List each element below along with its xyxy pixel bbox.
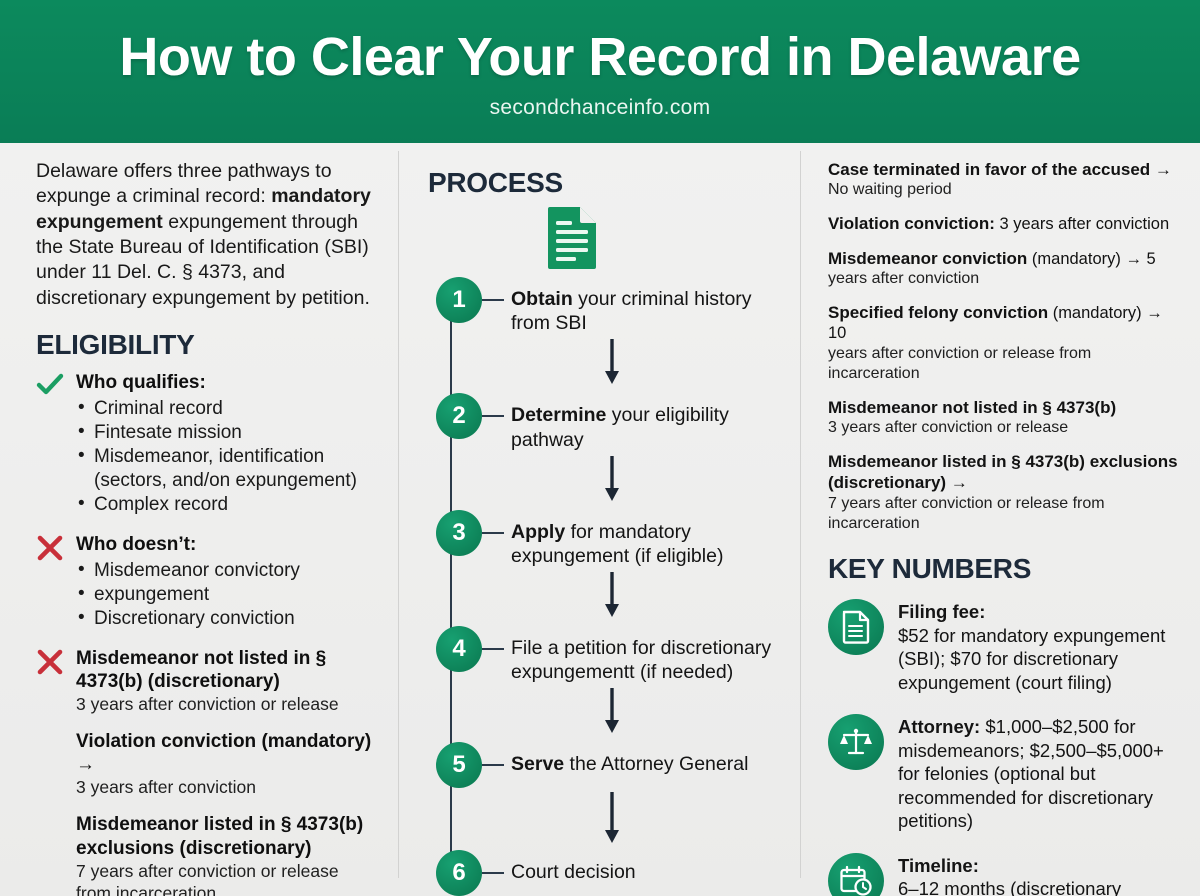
step-label: Apply for mandatory expungement (if elig…	[504, 510, 786, 568]
step-number-badge: 1	[436, 277, 482, 323]
infographic-page: How to Clear Your Record in Delaware sec…	[0, 0, 1200, 896]
fact-sub: No waiting period	[828, 180, 1182, 200]
fact-title: Specified felony conviction (mandatory) …	[828, 302, 1182, 344]
fact-sub: years after conviction or release from i…	[828, 344, 1182, 384]
page-header: How to Clear Your Record in Delaware sec…	[0, 0, 1200, 143]
step-connector-dash	[482, 872, 504, 874]
calendar-clock-icon	[828, 853, 884, 896]
step-label: Obtain your criminal history from SBI	[504, 277, 786, 335]
x-icon	[36, 647, 66, 716]
process-steps: 1 Obtain your criminal history from SBI …	[418, 277, 786, 896]
key-item-timeline: Timeline:6–12 months (discretionary peti…	[828, 853, 1182, 896]
step-number-badge: 4	[436, 626, 482, 672]
fact-title: Misdemeanor listed in § 4373(b) exclusio…	[828, 451, 1182, 494]
fact-sub: 3 years after conviction or release	[828, 418, 1182, 438]
eligibility-doesnt-block: Who doesn’t: Misdemeanor convictory expu…	[36, 533, 372, 631]
fact-inline: 3 years after conviction	[995, 215, 1169, 233]
doesnt-heading: Who doesn’t:	[76, 533, 372, 556]
list-item: Misdemeanor convictory	[76, 559, 372, 583]
key-item-label: Timeline:	[898, 855, 979, 876]
scales-icon	[828, 714, 884, 770]
step-connector-dash	[482, 648, 504, 650]
eligibility-qualifies-block: Who qualifies: Criminal record Fintesate…	[36, 371, 372, 517]
flow-arrow-5	[426, 788, 786, 850]
note-sub: 7 years after conviction or release from…	[76, 861, 372, 896]
step-label: Court decision	[504, 850, 636, 884]
fact-sub: 7 years after conviction or release from…	[828, 494, 1182, 534]
step-number-badge: 6	[436, 850, 482, 896]
page-title: How to Clear Your Record in Delaware	[119, 29, 1080, 86]
step-connector-dash	[482, 764, 504, 766]
list-item: Misdemeanor, identification (sectors, an…	[76, 445, 372, 493]
flow-arrow-2	[426, 452, 786, 510]
process-step-1: 1 Obtain your criminal history from SBI	[426, 277, 786, 335]
step-label-bold: Apply	[511, 521, 565, 543]
key-item-value: 6–12 months (discretionary petition with…	[898, 878, 1121, 896]
content-columns: Delaware offers three pathways to expung…	[0, 143, 1200, 896]
qualifies-list: Criminal record Fintesate mission Misdem…	[76, 397, 372, 517]
step-label: File a petition for discretionary expung…	[504, 626, 786, 684]
step-label-rest: File a petition for discretionary expung…	[511, 637, 771, 683]
fact-title-bold: Misdemeanor conviction	[828, 249, 1027, 268]
flow-arrow-4	[426, 684, 786, 742]
x-icon	[36, 533, 66, 631]
step-label: Serve the Attorney General	[504, 742, 748, 776]
key-item-text: Timeline:6–12 months (discretionary peti…	[898, 853, 1182, 896]
fact-title-bold: Violation conviction:	[828, 214, 995, 233]
fact-inline: (mandatory) → 5	[1027, 250, 1155, 268]
process-column: PROCESS	[398, 159, 800, 896]
key-item-text: Filing fee:$52 for mandatory expungement…	[898, 599, 1182, 694]
list-item: Discretionary conviction	[76, 607, 372, 631]
note-block-3: Misdemeanor listed in § 4373(b) exclusio…	[36, 813, 372, 896]
fact-row-2: Violation conviction: 3 years after conv…	[828, 213, 1182, 234]
list-item: Fintesate mission	[76, 421, 372, 445]
note-icon-spacer	[36, 813, 66, 896]
note-icon-spacer	[36, 730, 66, 799]
intro-paragraph: Delaware offers three pathways to expung…	[36, 159, 372, 311]
flow-arrow-1	[426, 335, 786, 393]
process-step-4: 4 File a petition for discretionary expu…	[426, 626, 786, 684]
list-item: Criminal record	[76, 397, 372, 421]
step-number-badge: 2	[436, 393, 482, 439]
process-step-3: 3 Apply for mandatory expungement (if el…	[426, 510, 786, 568]
left-column: Delaware offers three pathways to expung…	[0, 159, 398, 896]
fact-title: Misdemeanor conviction (mandatory) → 5	[828, 248, 1182, 269]
note-heading: Violation conviction (mandatory) →	[76, 730, 372, 776]
flow-arrow-3	[426, 568, 786, 626]
step-connector-dash	[482, 415, 504, 417]
key-item-attorney: Attorney: $1,000–$2,500 for misdemeanors…	[828, 714, 1182, 832]
step-number-badge: 5	[436, 742, 482, 788]
fact-row-5: Misdemeanor not listed in § 4373(b) 3 ye…	[828, 397, 1182, 438]
note-sub: 3 years after conviction or release	[76, 694, 372, 716]
key-item-filing-fee: Filing fee:$52 for mandatory expungement…	[828, 599, 1182, 694]
step-label: Determine your eligibility pathway	[504, 393, 786, 451]
fact-title: Case terminated in favor of the accused …	[828, 159, 1182, 180]
key-item-text: Attorney: $1,000–$2,500 for misdemeanors…	[898, 714, 1182, 832]
key-numbers-heading: KEY NUMBERS	[828, 553, 1182, 585]
process-step-5: 5 Serve the Attorney General	[426, 742, 786, 788]
note-heading: Misdemeanor not listed in § 4373(b) (dis…	[76, 647, 372, 693]
eligibility-heading: ELIGIBILITY	[36, 329, 372, 361]
fact-row-4: Specified felony conviction (mandatory) …	[828, 302, 1182, 384]
step-number-badge: 3	[436, 510, 482, 556]
qualifies-heading: Who qualifies:	[76, 371, 372, 394]
list-item: expungement	[76, 583, 372, 607]
list-item: Complex record	[76, 493, 372, 517]
step-label-rest: Court decision	[511, 861, 636, 883]
fact-title-bold: Misdemeanor not listed in § 4373(b)	[828, 398, 1116, 417]
step-connector-dash	[482, 532, 504, 534]
fact-sub: years after conviction	[828, 269, 1182, 289]
note-sub: 3 years after conviction	[76, 777, 372, 799]
step-label-bold: Serve	[511, 753, 564, 775]
check-icon	[36, 371, 66, 517]
document-icon	[418, 205, 786, 271]
site-url: secondchanceinfo.com	[490, 96, 711, 120]
note-block-1: Misdemeanor not listed in § 4373(b) (dis…	[36, 647, 372, 716]
right-column: Case terminated in favor of the accused …	[800, 159, 1200, 896]
note-heading: Misdemeanor listed in § 4373(b) exclusio…	[76, 813, 372, 859]
process-flow: 1 Obtain your criminal history from SBI …	[418, 277, 786, 896]
fact-title: Misdemeanor not listed in § 4373(b)	[828, 397, 1182, 418]
key-item-label: Filing fee:	[898, 601, 985, 622]
fact-title-bold: Specified felony conviction	[828, 303, 1048, 322]
process-heading: PROCESS	[428, 167, 786, 199]
key-item-value: $52 for mandatory expungement (SBI); $70…	[898, 625, 1165, 693]
fact-row-1: Case terminated in favor of the accused …	[828, 159, 1182, 200]
document-circle-icon	[828, 599, 884, 655]
doesnt-list: Misdemeanor convictory expungement Discr…	[76, 559, 372, 631]
step-label-bold: Obtain	[511, 288, 573, 310]
process-step-2: 2 Determine your eligibility pathway	[426, 393, 786, 451]
fact-row-6: Misdemeanor listed in § 4373(b) exclusio…	[828, 451, 1182, 534]
step-connector-dash	[482, 299, 504, 301]
step-label-rest: the Attorney General	[564, 753, 748, 775]
fact-row-3: Misdemeanor conviction (mandatory) → 5 y…	[828, 248, 1182, 289]
fact-title-bold: Case terminated in favor of the accused …	[828, 160, 1172, 179]
note-block-2: Violation conviction (mandatory) → 3 yea…	[36, 730, 372, 799]
step-label-bold: Determine	[511, 404, 606, 426]
fact-title: Violation conviction: 3 years after conv…	[828, 213, 1182, 234]
key-item-label: Attorney:	[898, 716, 980, 737]
fact-title-bold: Misdemeanor listed in § 4373(b) exclusio…	[828, 452, 1178, 492]
process-step-6: 6 Court decision	[426, 850, 786, 896]
